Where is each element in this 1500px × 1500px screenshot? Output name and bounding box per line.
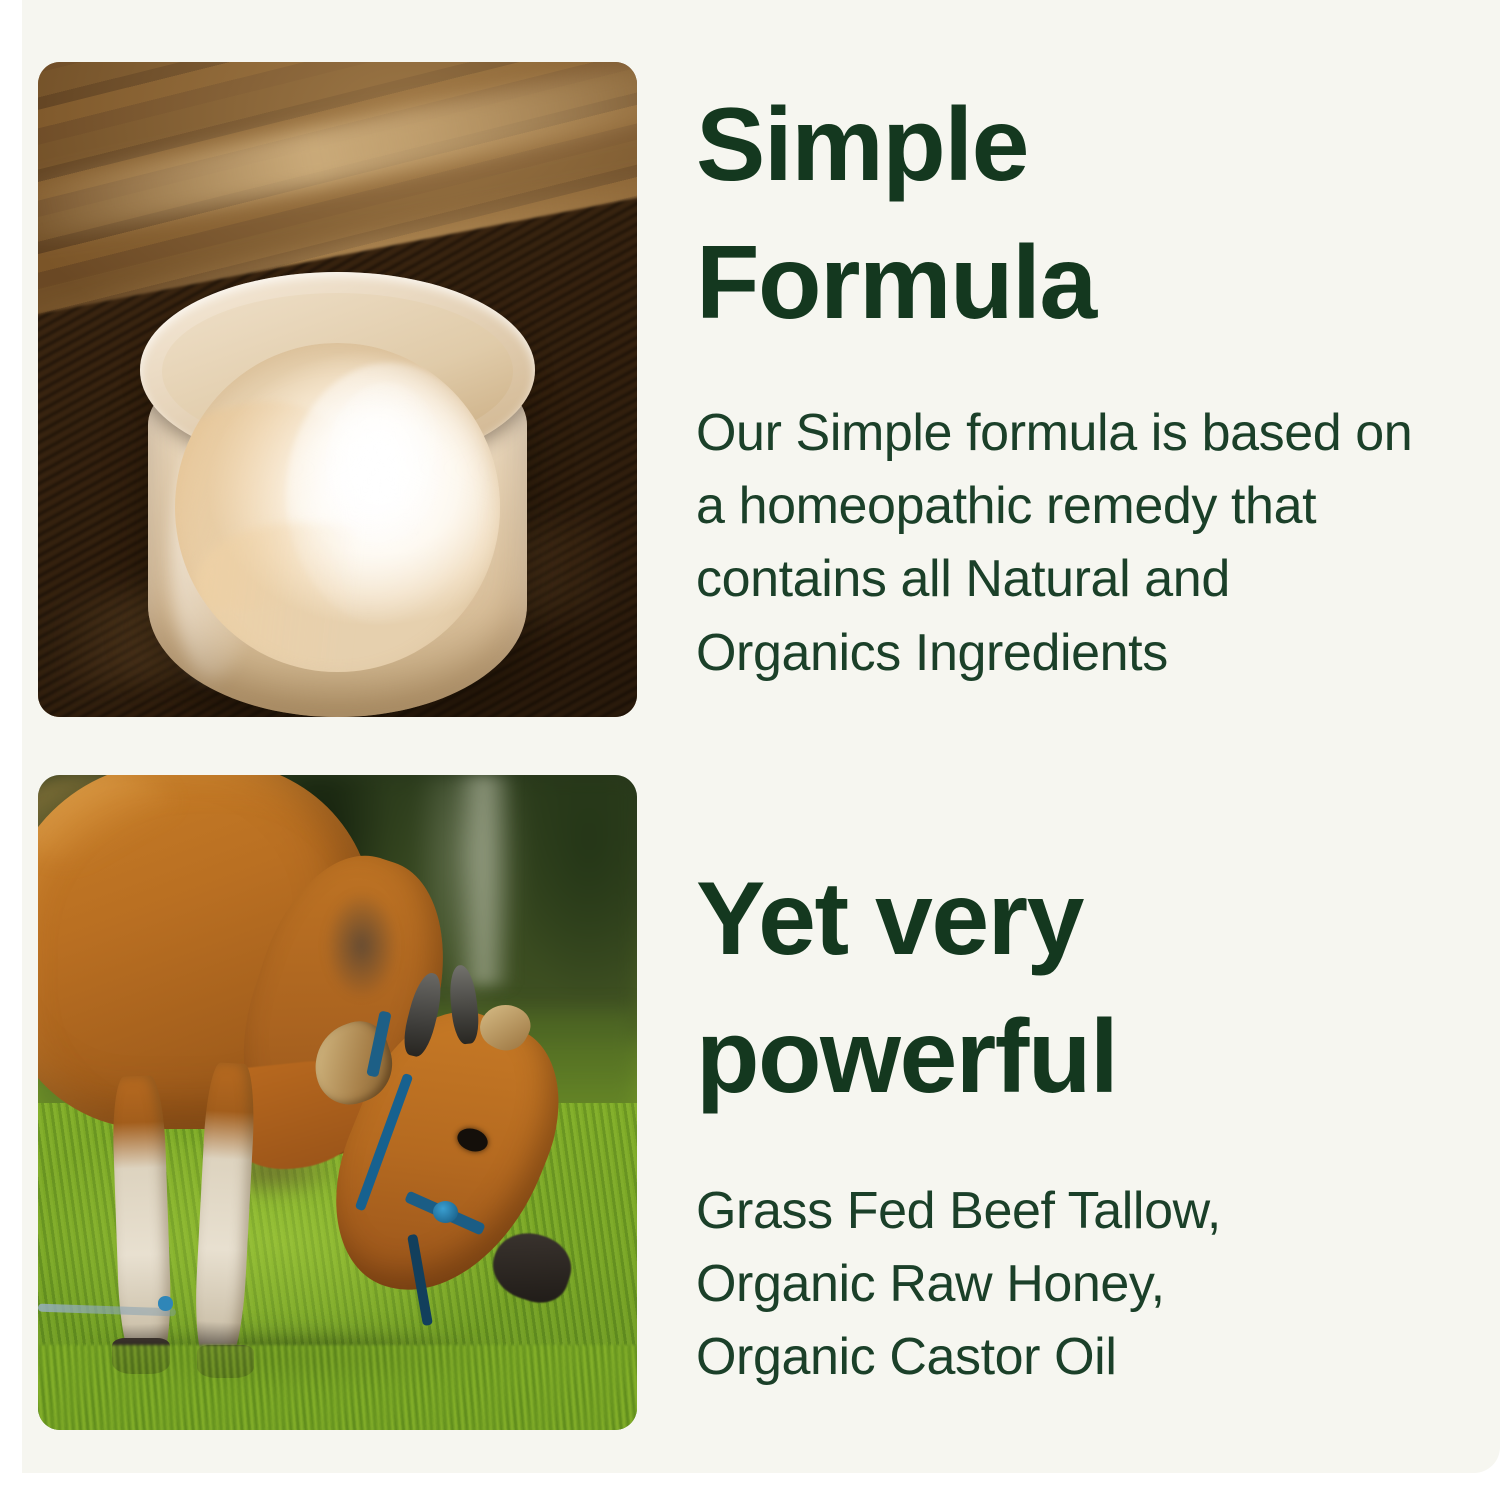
grazing-cow-photo bbox=[38, 775, 637, 1430]
page-title: Simple Formula bbox=[696, 76, 1426, 353]
cow-shoulder-shading bbox=[326, 893, 398, 998]
ground-rope-clip bbox=[158, 1296, 174, 1310]
pasture-background bbox=[38, 775, 637, 1430]
glass-jar bbox=[140, 272, 535, 717]
cream-peak-highlight bbox=[325, 382, 448, 553]
simple-formula-text-column: Simple Formula Our Simple formula is bas… bbox=[696, 62, 1426, 717]
whipped-tallow-cream bbox=[175, 343, 499, 673]
foreground-grass bbox=[38, 1345, 637, 1430]
feature-block-simple-formula: Simple Formula Our Simple formula is bas… bbox=[38, 62, 1426, 717]
yet-very-powerful-text-column: Yet very powerful Grass Fed Beef Tallow,… bbox=[696, 775, 1426, 1430]
tallow-balm-jar-photo bbox=[38, 62, 637, 717]
ingredients-list: Grass Fed Beef Tallow, Organic Raw Honey… bbox=[696, 1175, 1426, 1395]
feature-block-yet-very-powerful: Yet very powerful Grass Fed Beef Tallow,… bbox=[38, 775, 1426, 1430]
section-title: Yet very powerful bbox=[696, 850, 1426, 1127]
product-feature-graphic: Simple Formula Our Simple formula is bas… bbox=[0, 0, 1500, 1500]
blurred-tree-trunk bbox=[457, 775, 511, 985]
simple-formula-description: Our Simple formula is based on a homeopa… bbox=[696, 397, 1426, 690]
cow-body-highlight bbox=[38, 775, 180, 865]
